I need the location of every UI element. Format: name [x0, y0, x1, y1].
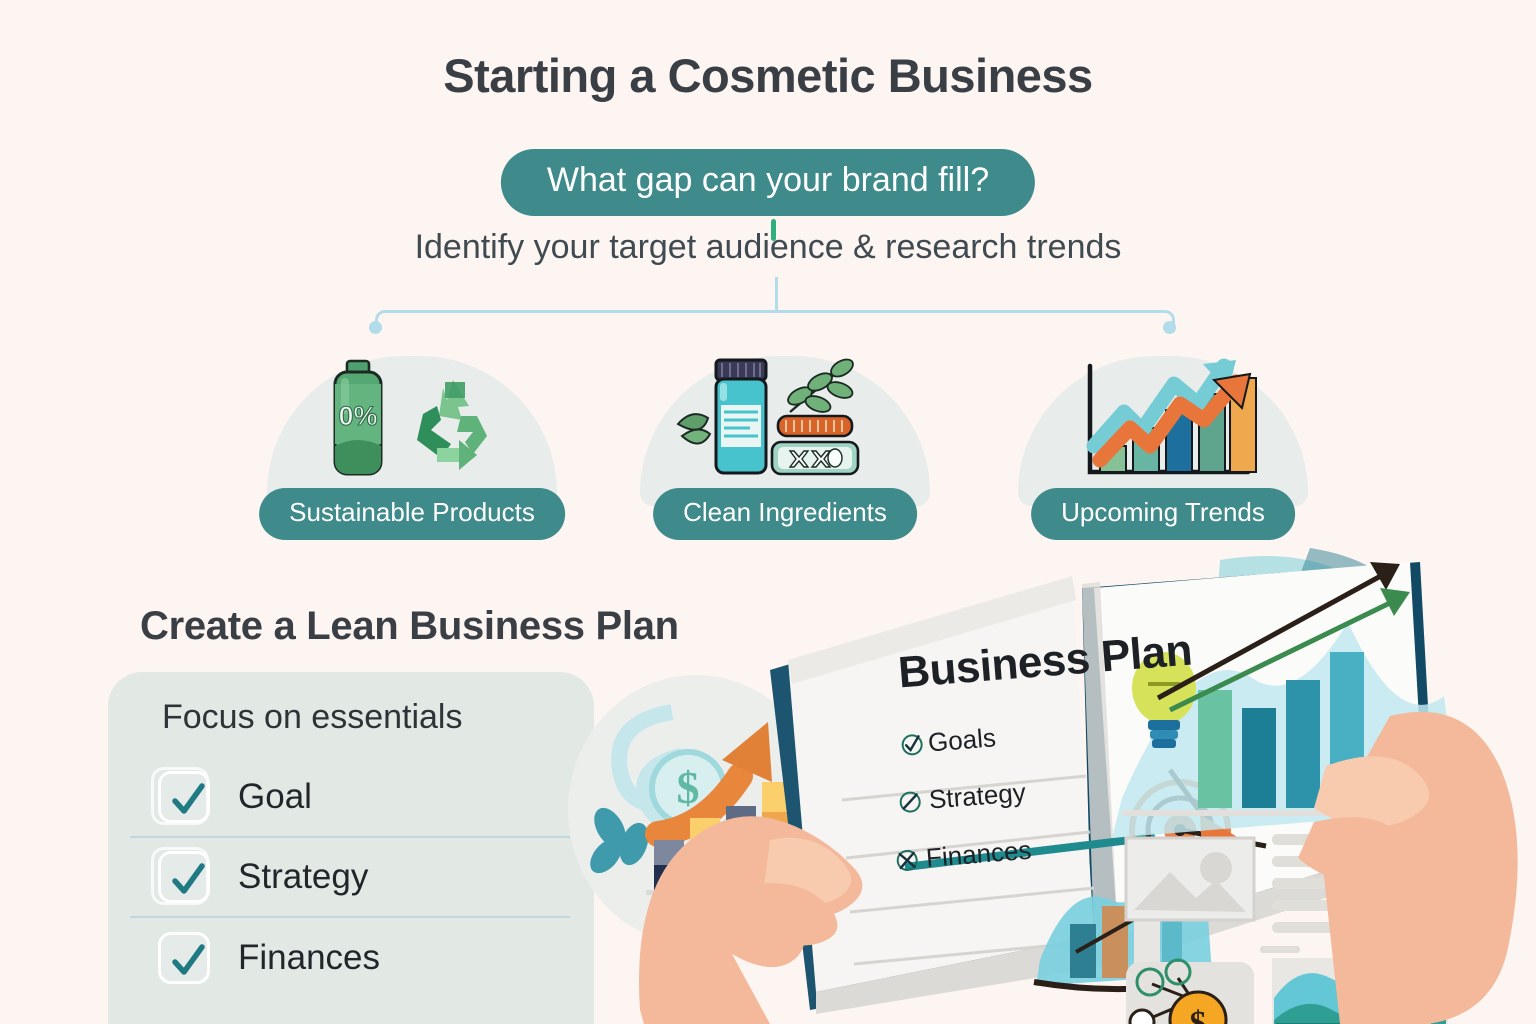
business-plan-book-illustration: $ — [620, 540, 1536, 1024]
book-item-label-strategy: Strategy — [928, 777, 1027, 815]
section-title-lean-plan: Create a Lean Business Plan — [140, 604, 679, 649]
page-subtitle: Identify your target audience & research… — [0, 228, 1536, 267]
book-item-label-goals: Goals — [927, 722, 997, 757]
page-title: Starting a Cosmetic Business — [0, 48, 1536, 103]
recycle-bottle-icon: 0% — [287, 350, 537, 490]
category-card-row: 0% Sustainable Products — [0, 350, 1536, 550]
checklist-label-finances: Finances — [238, 938, 380, 978]
svg-text:$: $ — [1190, 1005, 1207, 1024]
green-tick-mark — [771, 219, 776, 241]
cross-circle-icon — [894, 848, 920, 874]
connector-dot-right — [1163, 321, 1176, 334]
serum-bottle-leaf-icon — [660, 350, 910, 490]
check-icon — [167, 940, 209, 982]
checklist-rows: Goal Strategy Finances — [130, 758, 570, 998]
connector-dot-left — [369, 321, 382, 334]
checkbox-finances[interactable] — [158, 932, 210, 984]
check-circle-icon — [897, 789, 923, 815]
check-circle-icon — [899, 732, 925, 758]
checkbox-strategy[interactable] — [158, 851, 210, 903]
checklist-item-strategy[interactable]: Strategy — [130, 838, 570, 918]
check-icon — [167, 859, 209, 901]
connector-stem — [775, 277, 778, 313]
check-icon — [167, 779, 209, 821]
checkbox-goal[interactable] — [158, 771, 210, 823]
checklist-card: Focus on essentials Goal Strategy — [108, 672, 594, 1024]
card-label-upcoming-trends[interactable]: Upcoming Trends — [1031, 488, 1295, 540]
checklist-label-strategy: Strategy — [238, 857, 368, 897]
card-label-sustainable-products[interactable]: Sustainable Products — [259, 488, 565, 540]
infographic-canvas: Starting a Cosmetic Business What gap ca… — [0, 0, 1536, 1024]
card-label-clean-ingredients[interactable]: Clean Ingredients — [653, 488, 917, 540]
checklist-heading: Focus on essentials — [162, 698, 463, 737]
checklist-item-goal[interactable]: Goal — [130, 758, 570, 838]
checklist-label-goal: Goal — [238, 777, 312, 817]
hero-question-pill: What gap can your brand fill? — [501, 149, 1035, 216]
checklist-item-finances[interactable]: Finances — [130, 918, 570, 998]
growth-chart-arrow-icon — [1038, 350, 1288, 490]
connector-bracket — [375, 310, 1175, 332]
svg-text:0%: 0% — [338, 401, 377, 431]
